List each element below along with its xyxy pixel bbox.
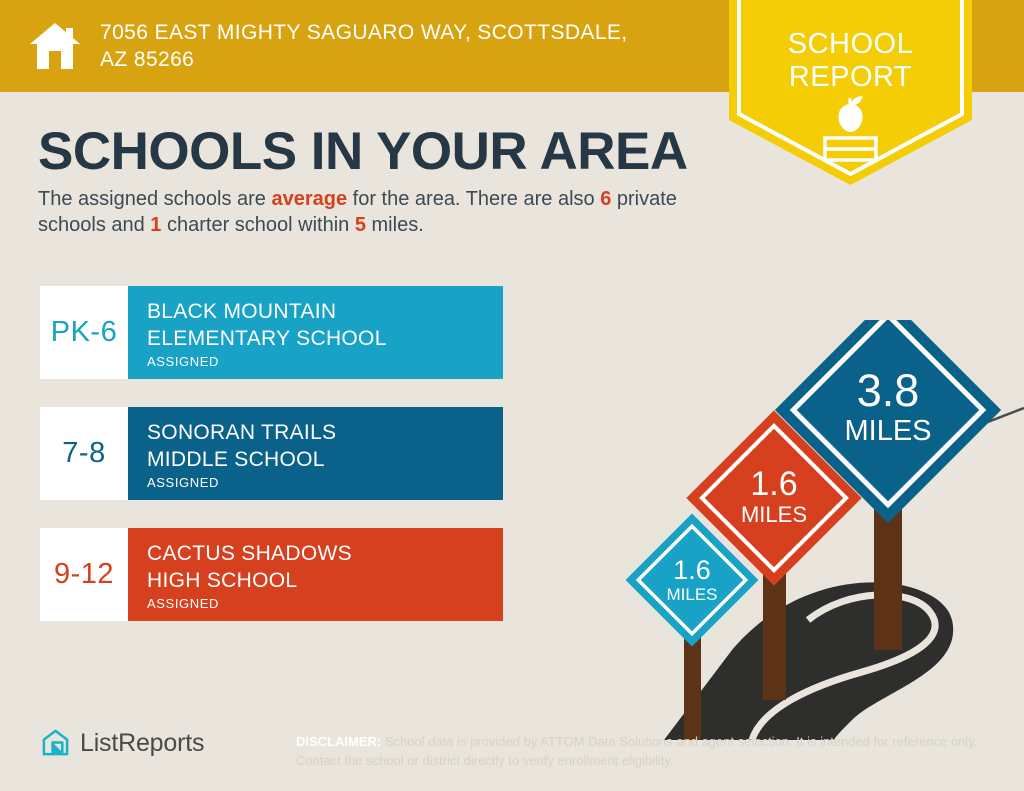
subtitle-highlight-private-count: 6 [600, 188, 611, 210]
school-list: PK-6 BLACK MOUNTAIN ELEMENTARY SCHOOL AS… [40, 286, 503, 649]
disclaimer-body: School data is provided by ATTOM Data So… [296, 734, 977, 768]
school-body: SONORAN TRAILS MIDDLE SCHOOL ASSIGNED [128, 407, 503, 500]
school-name-line2: ELEMENTARY SCHOOL [147, 325, 503, 352]
school-card[interactable]: 9-12 CACTUS SHADOWS HIGH SCHOOL ASSIGNED [40, 528, 503, 621]
school-card[interactable]: 7-8 SONORAN TRAILS MIDDLE SCHOOL ASSIGNE… [40, 407, 503, 500]
school-grade-badge: 7-8 [40, 407, 128, 500]
school-grade-badge: 9-12 [40, 528, 128, 621]
sign-value: 3.8 [857, 365, 920, 416]
school-name-line1: CACTUS SHADOWS [147, 540, 503, 567]
school-status-badge: ASSIGNED [147, 353, 503, 371]
listreports-logo[interactable]: ListReports [40, 728, 204, 759]
school-body: CACTUS SHADOWS HIGH SCHOOL ASSIGNED [128, 528, 503, 621]
school-grade-label: 9-12 [54, 558, 114, 591]
school-card[interactable]: PK-6 BLACK MOUNTAIN ELEMENTARY SCHOOL AS… [40, 286, 503, 379]
subtitle-highlight-rating: average [271, 188, 347, 210]
disclaimer-text: DISCLAIMER: School data is provided by A… [296, 732, 986, 770]
sign-value: 1.6 [673, 555, 711, 585]
school-report-badge: SCHOOL REPORT [729, 0, 972, 185]
school-status-badge: ASSIGNED [147, 595, 503, 613]
school-name-line1: SONORAN TRAILS [147, 419, 503, 446]
school-body: BLACK MOUNTAIN ELEMENTARY SCHOOL ASSIGNE… [128, 286, 503, 379]
subtitle-part-4: charter school within [161, 214, 354, 236]
school-grade-label: PK-6 [51, 316, 117, 349]
school-name-line2: MIDDLE SCHOOL [147, 446, 503, 473]
listreports-wordmark: ListReports [80, 729, 204, 758]
subtitle-highlight-charter-count: 1 [150, 214, 161, 236]
page-subtitle: The assigned schools are average for the… [38, 186, 718, 238]
subtitle-part-1: The assigned schools are [38, 188, 271, 210]
school-status-badge: ASSIGNED [147, 474, 503, 492]
badge-title-line1: SCHOOL [729, 28, 972, 61]
subtitle-highlight-radius: 5 [355, 214, 366, 236]
listreports-house-tag-icon [40, 728, 71, 759]
sign-unit: MILES [741, 502, 807, 527]
subtitle-part-2: for the area. There are also [347, 188, 600, 210]
sign-unit: MILES [844, 415, 931, 447]
sign-value: 1.6 [750, 465, 797, 503]
house-icon [28, 19, 82, 73]
page-title: SCHOOLS IN YOUR AREA [38, 122, 688, 182]
subtitle-part-5: miles. [366, 214, 424, 236]
school-grade-label: 7-8 [62, 437, 105, 470]
school-name-line2: HIGH SCHOOL [147, 567, 503, 594]
header-address: 7056 EAST MIGHTY SAGUARO WAY, SCOTTSDALE… [100, 19, 660, 73]
disclaimer-label: DISCLAIMER: [296, 734, 381, 749]
school-grade-badge: PK-6 [40, 286, 128, 379]
badge-title-line2: REPORT [729, 61, 972, 94]
school-name-line1: BLACK MOUNTAIN [147, 298, 503, 325]
road-scene-illustration: 1.6 MILES 1.6 MILES 3.8 MILES [612, 320, 1024, 740]
sign-unit: MILES [666, 585, 717, 604]
